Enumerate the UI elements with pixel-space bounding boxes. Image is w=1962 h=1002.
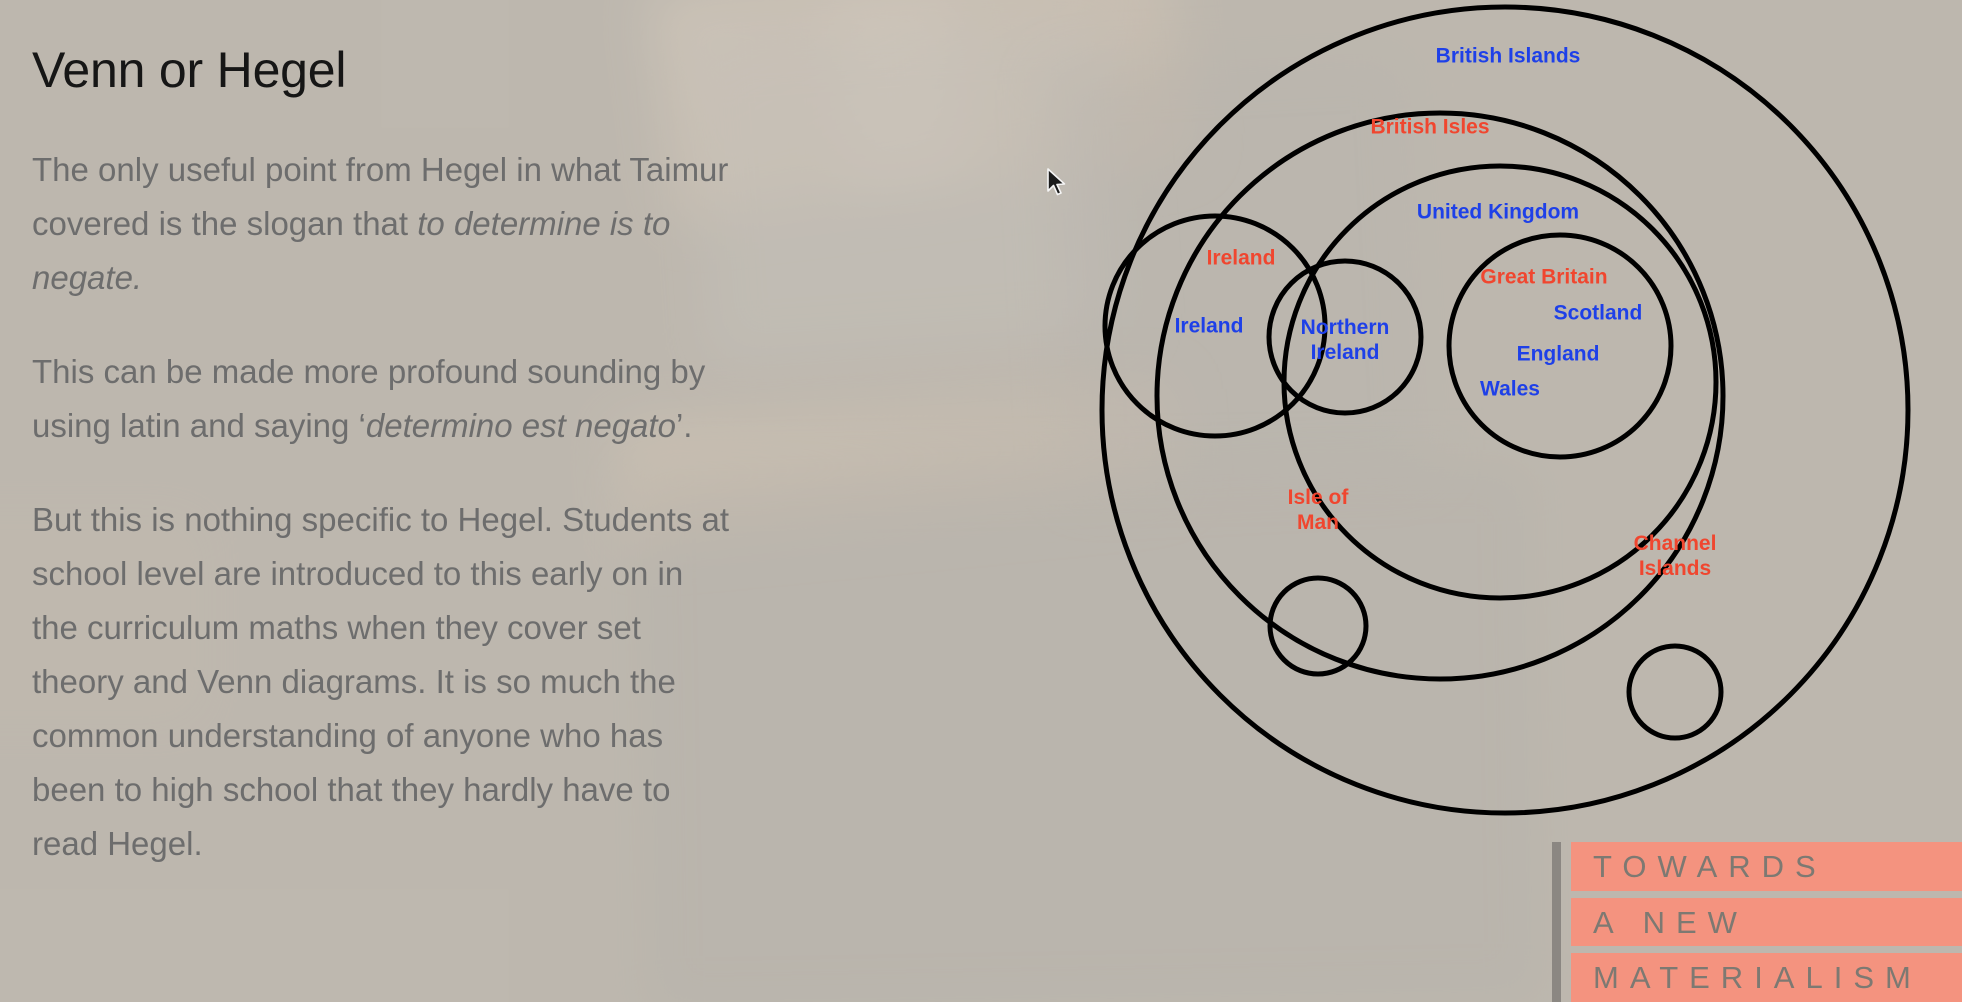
- banner-line-list: TOWARDSA NEWMATERIALISM: [1571, 832, 1962, 1002]
- slide-text-column: Venn or Hegel The only useful point from…: [32, 44, 862, 911]
- venn-circle-british-islands: [1102, 7, 1908, 813]
- towards-a-new-materialism-banner: TOWARDSA NEWMATERIALISM: [1552, 832, 1962, 1002]
- paragraph-list: The only useful point from Hegel in what…: [32, 143, 862, 871]
- venn-label-scotland: Scotland: [1554, 301, 1643, 326]
- page-title: Venn or Hegel: [32, 44, 862, 97]
- mouse-cursor-icon: [1046, 168, 1068, 200]
- venn-label-united-kingdom: United Kingdom: [1417, 200, 1579, 225]
- venn-label-northern-ireland: NorthernIreland: [1301, 315, 1390, 365]
- venn-label-channel-islands: ChannelIslands: [1634, 531, 1717, 581]
- venn-label-british-isles: British Isles: [1370, 115, 1489, 140]
- venn-label-wales: Wales: [1480, 377, 1540, 402]
- venn-label-great-britain: Great Britain: [1480, 265, 1607, 290]
- body-paragraph: But this is nothing specific to Hegel. S…: [32, 493, 732, 871]
- body-paragraph: This can be made more profound sounding …: [32, 345, 732, 453]
- banner-line: A NEW: [1571, 898, 1962, 947]
- venn-label-isle-of-man: Isle ofMan: [1288, 485, 1349, 535]
- venn-label-british-islands: British Islands: [1436, 44, 1581, 69]
- plain-text: But this is nothing specific to Hegel. S…: [32, 501, 729, 862]
- venn-diagram: British IslandsBritish IslesUnited Kingd…: [1080, 0, 1962, 840]
- venn-circles-svg: [1080, 0, 1962, 840]
- venn-circle-channel-islands: [1629, 646, 1721, 738]
- banner-vertical-rule: [1552, 842, 1561, 1002]
- venn-label-ireland: Ireland: [1175, 314, 1244, 339]
- venn-label-england: England: [1517, 342, 1600, 367]
- banner-line: MATERIALISM: [1571, 953, 1962, 1002]
- venn-label-ireland: Ireland: [1207, 246, 1276, 271]
- arrow-pointer-icon: [1046, 168, 1068, 200]
- venn-circle-isle-of-man: [1270, 578, 1366, 674]
- body-paragraph: The only useful point from Hegel in what…: [32, 143, 732, 305]
- venn-circle-british-isles: [1157, 113, 1723, 679]
- banner-line: TOWARDS: [1571, 842, 1962, 891]
- slide-canvas: Venn or Hegel The only useful point from…: [0, 0, 1962, 1002]
- plain-text: ’.: [676, 407, 693, 444]
- emphasis-text: determino est negato: [366, 407, 676, 444]
